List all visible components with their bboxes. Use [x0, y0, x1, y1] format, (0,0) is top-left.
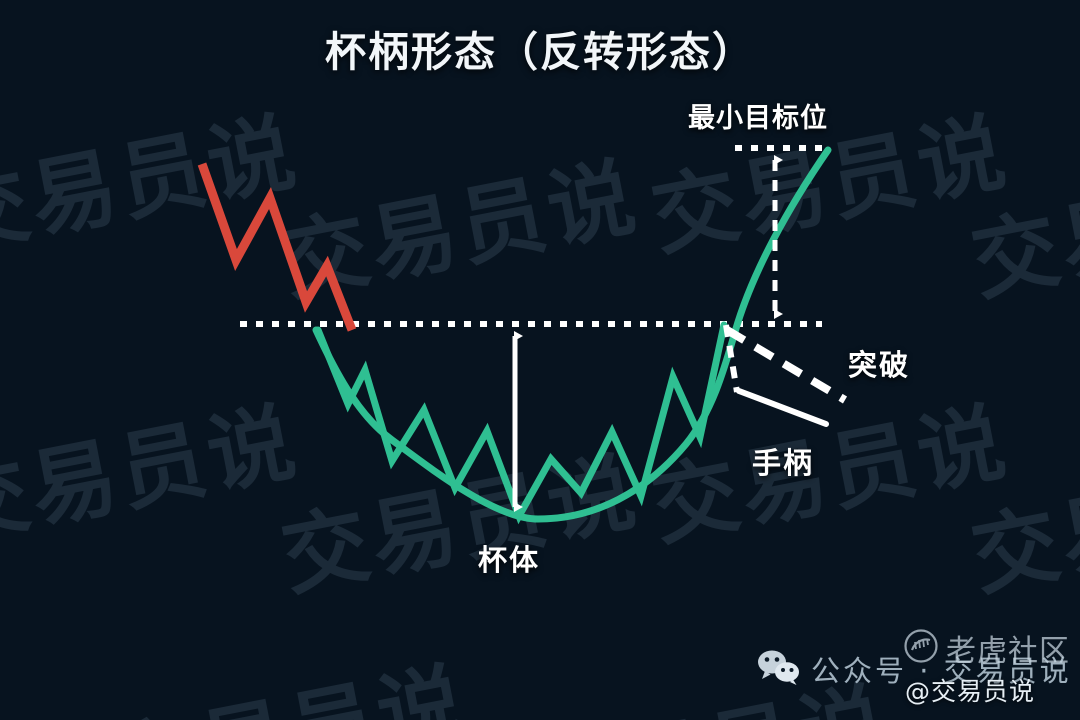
- pattern-chart: [0, 0, 1080, 720]
- tiger-community-label: 老虎社区: [946, 626, 1070, 670]
- wechat-icon: [757, 649, 801, 690]
- label-cup-body: 杯体: [478, 537, 540, 579]
- author-handle: @交易员说: [905, 672, 1035, 708]
- chart-canvas: 交易员说交易员说交易员说交易员说交易员说交易员说交易员说交易员说交易员说交易员说…: [0, 0, 1080, 720]
- downtrend-line: [202, 164, 352, 330]
- handle-leader-line: [739, 391, 826, 424]
- breakout-trendline: [727, 330, 845, 400]
- tiger-community-brand: 老虎社区: [903, 626, 1070, 670]
- tiger-logo-icon: [903, 628, 939, 669]
- cup-price-zigzag: [318, 325, 724, 516]
- label-handle: 手柄: [752, 440, 814, 482]
- label-minimum-target: 最小目标位: [688, 96, 828, 135]
- label-breakout: 突破: [848, 342, 910, 384]
